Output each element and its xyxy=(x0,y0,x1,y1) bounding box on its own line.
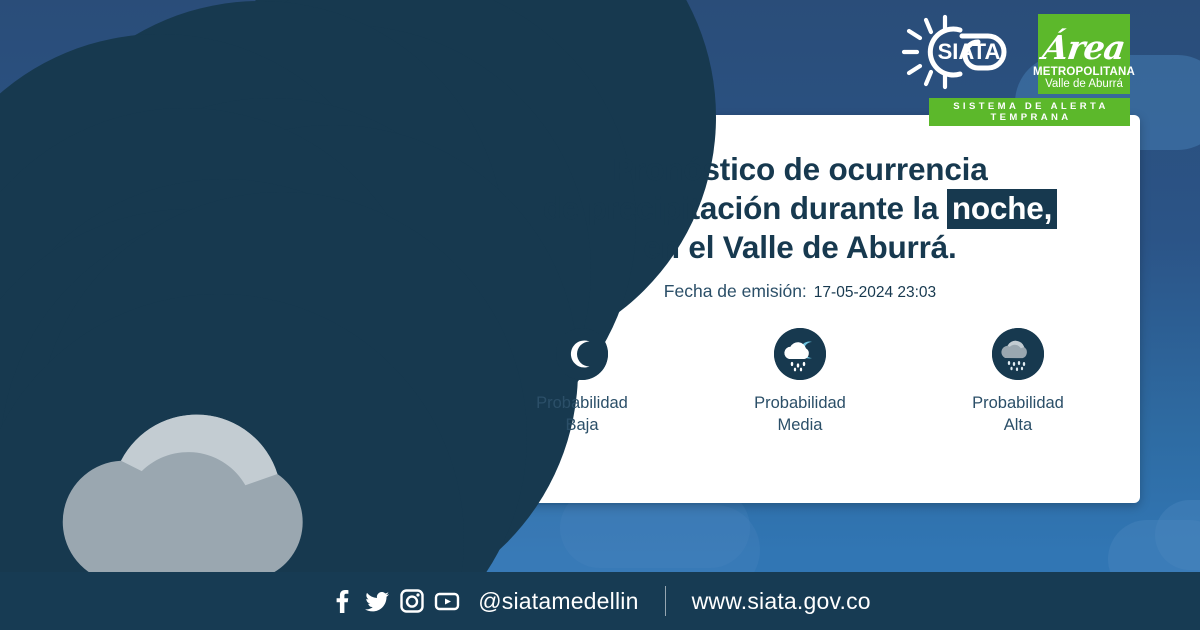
probability-legend: Probabilidad Baja xyxy=(470,328,1130,437)
title-highlight-noche: noche, xyxy=(947,189,1057,229)
title-line-1: Pronóstico de ocurrencia xyxy=(470,150,1130,189)
area-valle-text: Valle de Aburrá xyxy=(1045,78,1123,91)
legend-item-baja: Probabilidad Baja xyxy=(507,328,657,437)
title-line-3: en el Valle de Aburrá. xyxy=(470,228,1130,267)
logo-bar: SIATA Área METROPOLITANA Valle de Aburrá… xyxy=(900,14,1130,126)
area-metropolitana-logo: Área METROPOLITANA Valle de Aburrá xyxy=(1038,14,1130,94)
title-line-2: de precipitación durante la noche, xyxy=(470,189,1130,228)
website-url[interactable]: www.siata.gov.co xyxy=(692,588,871,615)
emission-date-row: Fecha de emisión: 17-05-2024 23:03 xyxy=(470,281,1130,302)
emission-date-value: 17-05-2024 23:03 xyxy=(814,284,936,302)
page-title: Pronóstico de ocurrencia de precipitació… xyxy=(470,150,1130,267)
facebook-icon[interactable] xyxy=(329,588,355,614)
siata-logo: SIATA xyxy=(900,14,1028,90)
cloud-moon-rain-icon xyxy=(774,328,826,380)
youtube-icon[interactable] xyxy=(434,588,460,614)
legend-label-alta: Probabilidad Alta xyxy=(972,392,1064,437)
logo-row: SIATA Área METROPOLITANA Valle de Aburrá xyxy=(900,14,1130,94)
emission-label: Fecha de emisión: xyxy=(664,281,807,302)
title-line-2-text: de precipitación durante la xyxy=(543,190,938,226)
legend-baja-line1: Probabilidad xyxy=(536,394,628,412)
legend-media-line2: Media xyxy=(778,416,823,434)
area-script-text: Área xyxy=(1041,31,1127,64)
twitter-icon[interactable] xyxy=(364,588,390,614)
forecast-content: Pronóstico de ocurrencia de precipitació… xyxy=(470,150,1130,437)
social-handle[interactable]: @siatamedellin xyxy=(478,588,638,615)
legend-baja-line2: Baja xyxy=(565,416,598,434)
legend-alta-line2: Alta xyxy=(1004,416,1032,434)
poster-root: SIATA Área METROPOLITANA Valle de Aburrá… xyxy=(0,0,1200,630)
legend-item-media: Probabilidad Media xyxy=(725,328,875,437)
legend-item-alta: Probabilidad Alta xyxy=(943,328,1093,437)
social-icons xyxy=(329,588,460,614)
legend-alta-line1: Probabilidad xyxy=(972,394,1064,412)
legend-label-media: Probabilidad Media xyxy=(754,392,846,437)
instagram-icon[interactable] xyxy=(399,588,425,614)
legend-media-line1: Probabilidad xyxy=(754,394,846,412)
footer-divider xyxy=(665,586,666,616)
siata-wordmark: SIATA xyxy=(938,39,1001,64)
moon-icon xyxy=(556,328,608,380)
legend-label-baja: Probabilidad Baja xyxy=(536,392,628,437)
siata-tagline: SISTEMA DE ALERTA TEMPRANA xyxy=(929,98,1130,126)
footer-bar: @siatamedellin www.siata.gov.co xyxy=(0,572,1200,630)
cloud-rain-icon xyxy=(992,328,1044,380)
area-metropolitana-text: METROPOLITANA xyxy=(1033,66,1135,78)
